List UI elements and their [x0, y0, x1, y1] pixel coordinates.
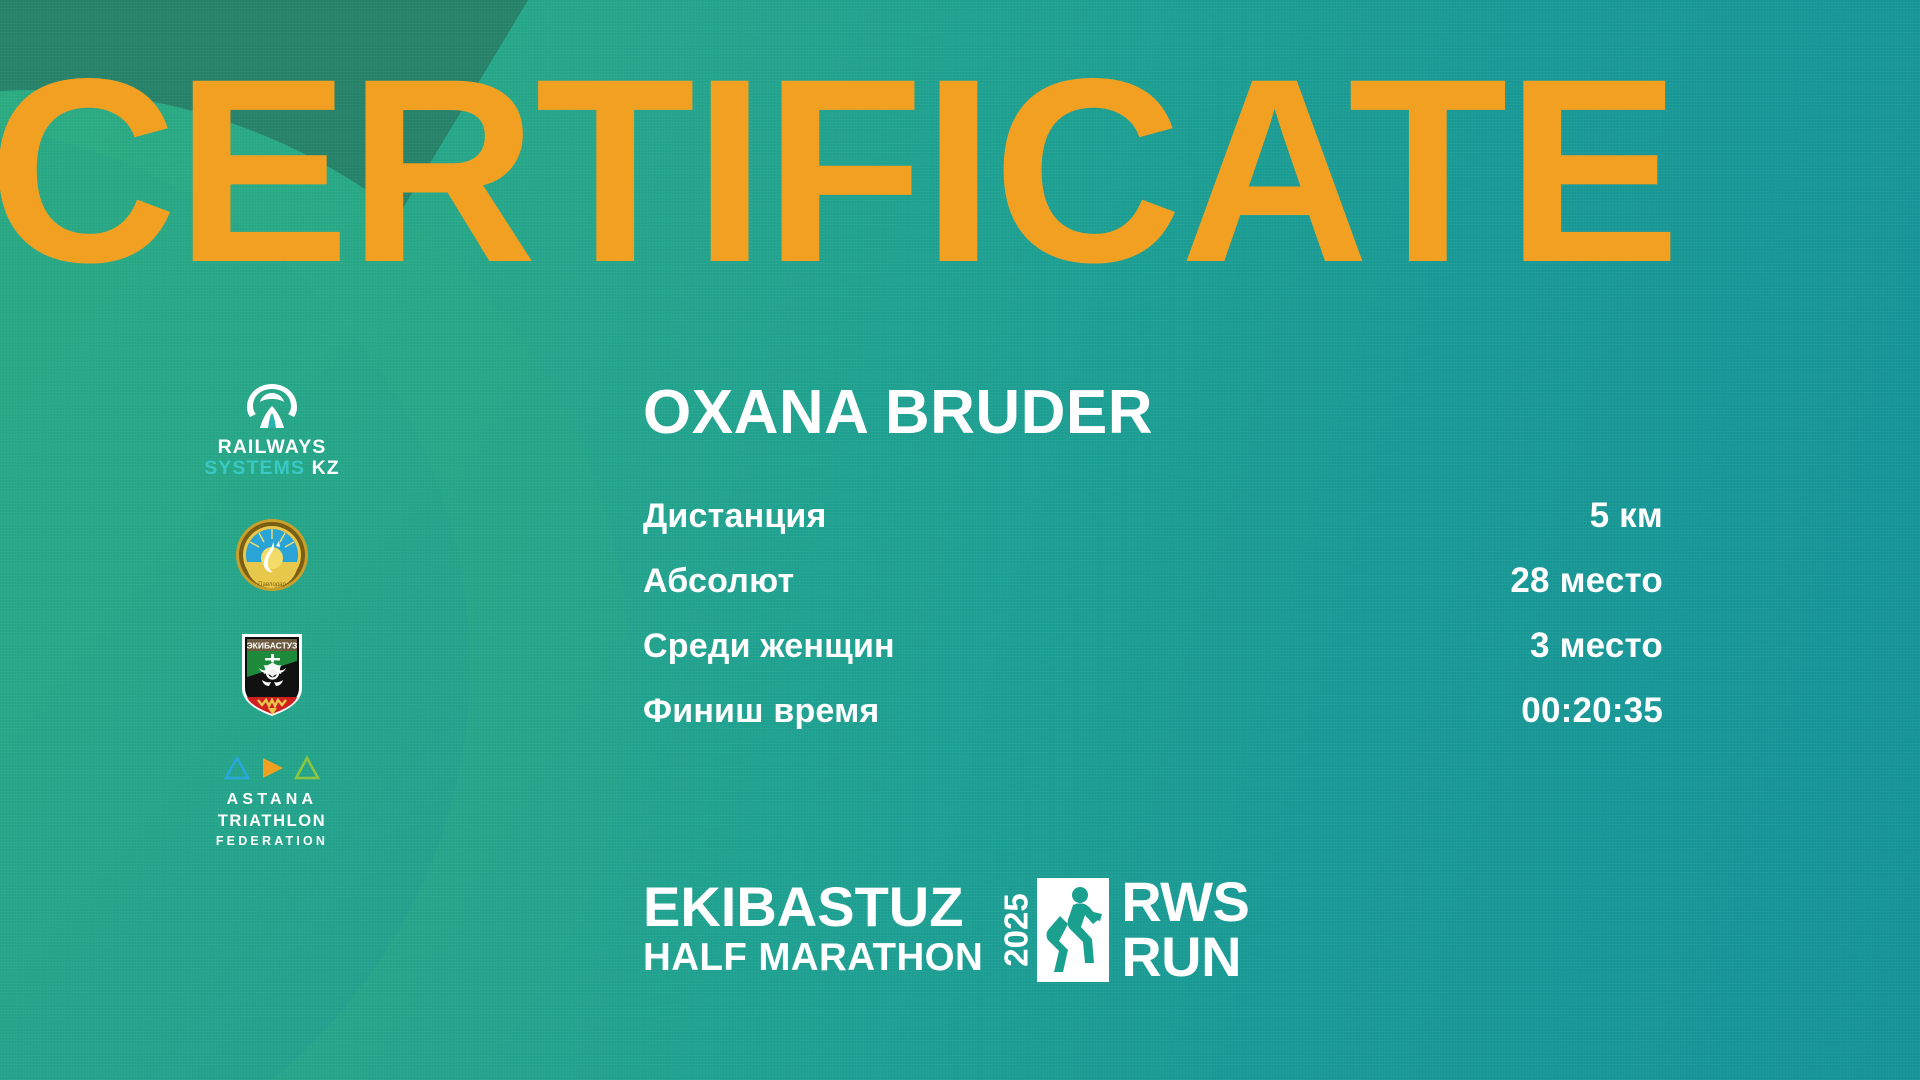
sponsor-logo-astana-triathlon-federation: ASTANA TRIATHLON FEDERATION	[216, 756, 328, 850]
stat-row-overall: Абсолют 28 место	[643, 561, 1663, 601]
railways-kz-text: KZ	[312, 457, 340, 479]
railways-line2: SYSTEMS KZ	[204, 458, 340, 480]
astana-line2: TRIATHLON	[216, 810, 328, 832]
certificate-canvas: CERTIFICATE RAILWAYS SYSTEMS KZ	[0, 0, 1920, 1080]
stat-label-overall: Абсолют	[643, 562, 794, 601]
athlete-name: OXANA BRUDER	[643, 382, 1663, 444]
sponsor-logo-column: RAILWAYS SYSTEMS KZ Павлодар	[192, 382, 352, 850]
svg-text:Павлодар: Павлодар	[258, 582, 286, 588]
pavlodar-oblast-seal-icon: Павлодар	[235, 518, 309, 592]
event-brand-block: RWS RUN	[1121, 876, 1249, 983]
astana-line1: ASTANA	[216, 789, 328, 811]
triathlon-triangles-icon	[224, 756, 320, 780]
railway-arch-icon	[244, 382, 300, 432]
event-name-block: EKIBASTUZ HALF MARATHON	[643, 881, 983, 978]
certificate-title: CERTIFICATE	[0, 58, 1679, 283]
sponsor-logo-pavlodar-oblast: Павлодар	[235, 518, 309, 592]
event-year: 2025	[999, 878, 1033, 982]
certificate-body: OXANA BRUDER Дистанция 5 км Абсолют 28 м…	[643, 382, 1663, 756]
stat-value-overall: 28 место	[1510, 561, 1663, 601]
event-brand-line2: RUN	[1121, 931, 1249, 984]
svg-text:ЭКИБАСТУЗ: ЭКИБАСТУЗ	[247, 640, 298, 650]
astana-triathlon-text: ASTANA TRIATHLON FEDERATION	[216, 789, 328, 850]
event-name-top: EKIBASTUZ	[643, 881, 983, 934]
runner-icon-box	[1037, 878, 1109, 982]
stat-label-distance: Дистанция	[643, 497, 827, 536]
event-logo: EKIBASTUZ HALF MARATHON 2025 RWS	[643, 876, 1249, 983]
triangle-blue-icon	[224, 756, 250, 780]
stat-value-women: 3 место	[1530, 626, 1663, 666]
result-stats-table: Дистанция 5 км Абсолют 28 место Среди же…	[643, 496, 1663, 731]
stat-row-finish-time: Финиш время 00:20:35	[643, 691, 1663, 731]
running-person-icon	[1037, 878, 1109, 982]
event-name-bottom: HALF MARATHON	[643, 938, 983, 978]
event-year-text: 2025	[997, 893, 1035, 966]
railways-line1: RAILWAYS	[218, 437, 327, 458]
stat-label-women: Среди женщин	[643, 627, 895, 666]
sponsor-logo-railways-systems-kz: RAILWAYS SYSTEMS KZ	[204, 382, 340, 480]
stat-row-women: Среди женщин 3 место	[643, 626, 1663, 666]
triangle-green-icon	[294, 756, 320, 780]
stat-label-finish-time: Финиш время	[643, 692, 879, 731]
railways-systems-text: SYSTEMS	[204, 457, 305, 479]
ekibastuz-shield-icon: ЭКИБАСТУЗ	[238, 630, 306, 718]
stat-row-distance: Дистанция 5 км	[643, 496, 1663, 536]
event-brand-line1: RWS	[1121, 876, 1249, 929]
triangle-orange-icon	[259, 756, 285, 780]
stat-value-distance: 5 км	[1590, 496, 1663, 536]
event-year-runner-block: 2025	[997, 878, 1109, 982]
astana-line3: FEDERATION	[216, 833, 328, 851]
stat-value-finish-time: 00:20:35	[1521, 691, 1663, 731]
sponsor-logo-ekibastuz: ЭКИБАСТУЗ	[238, 630, 306, 718]
